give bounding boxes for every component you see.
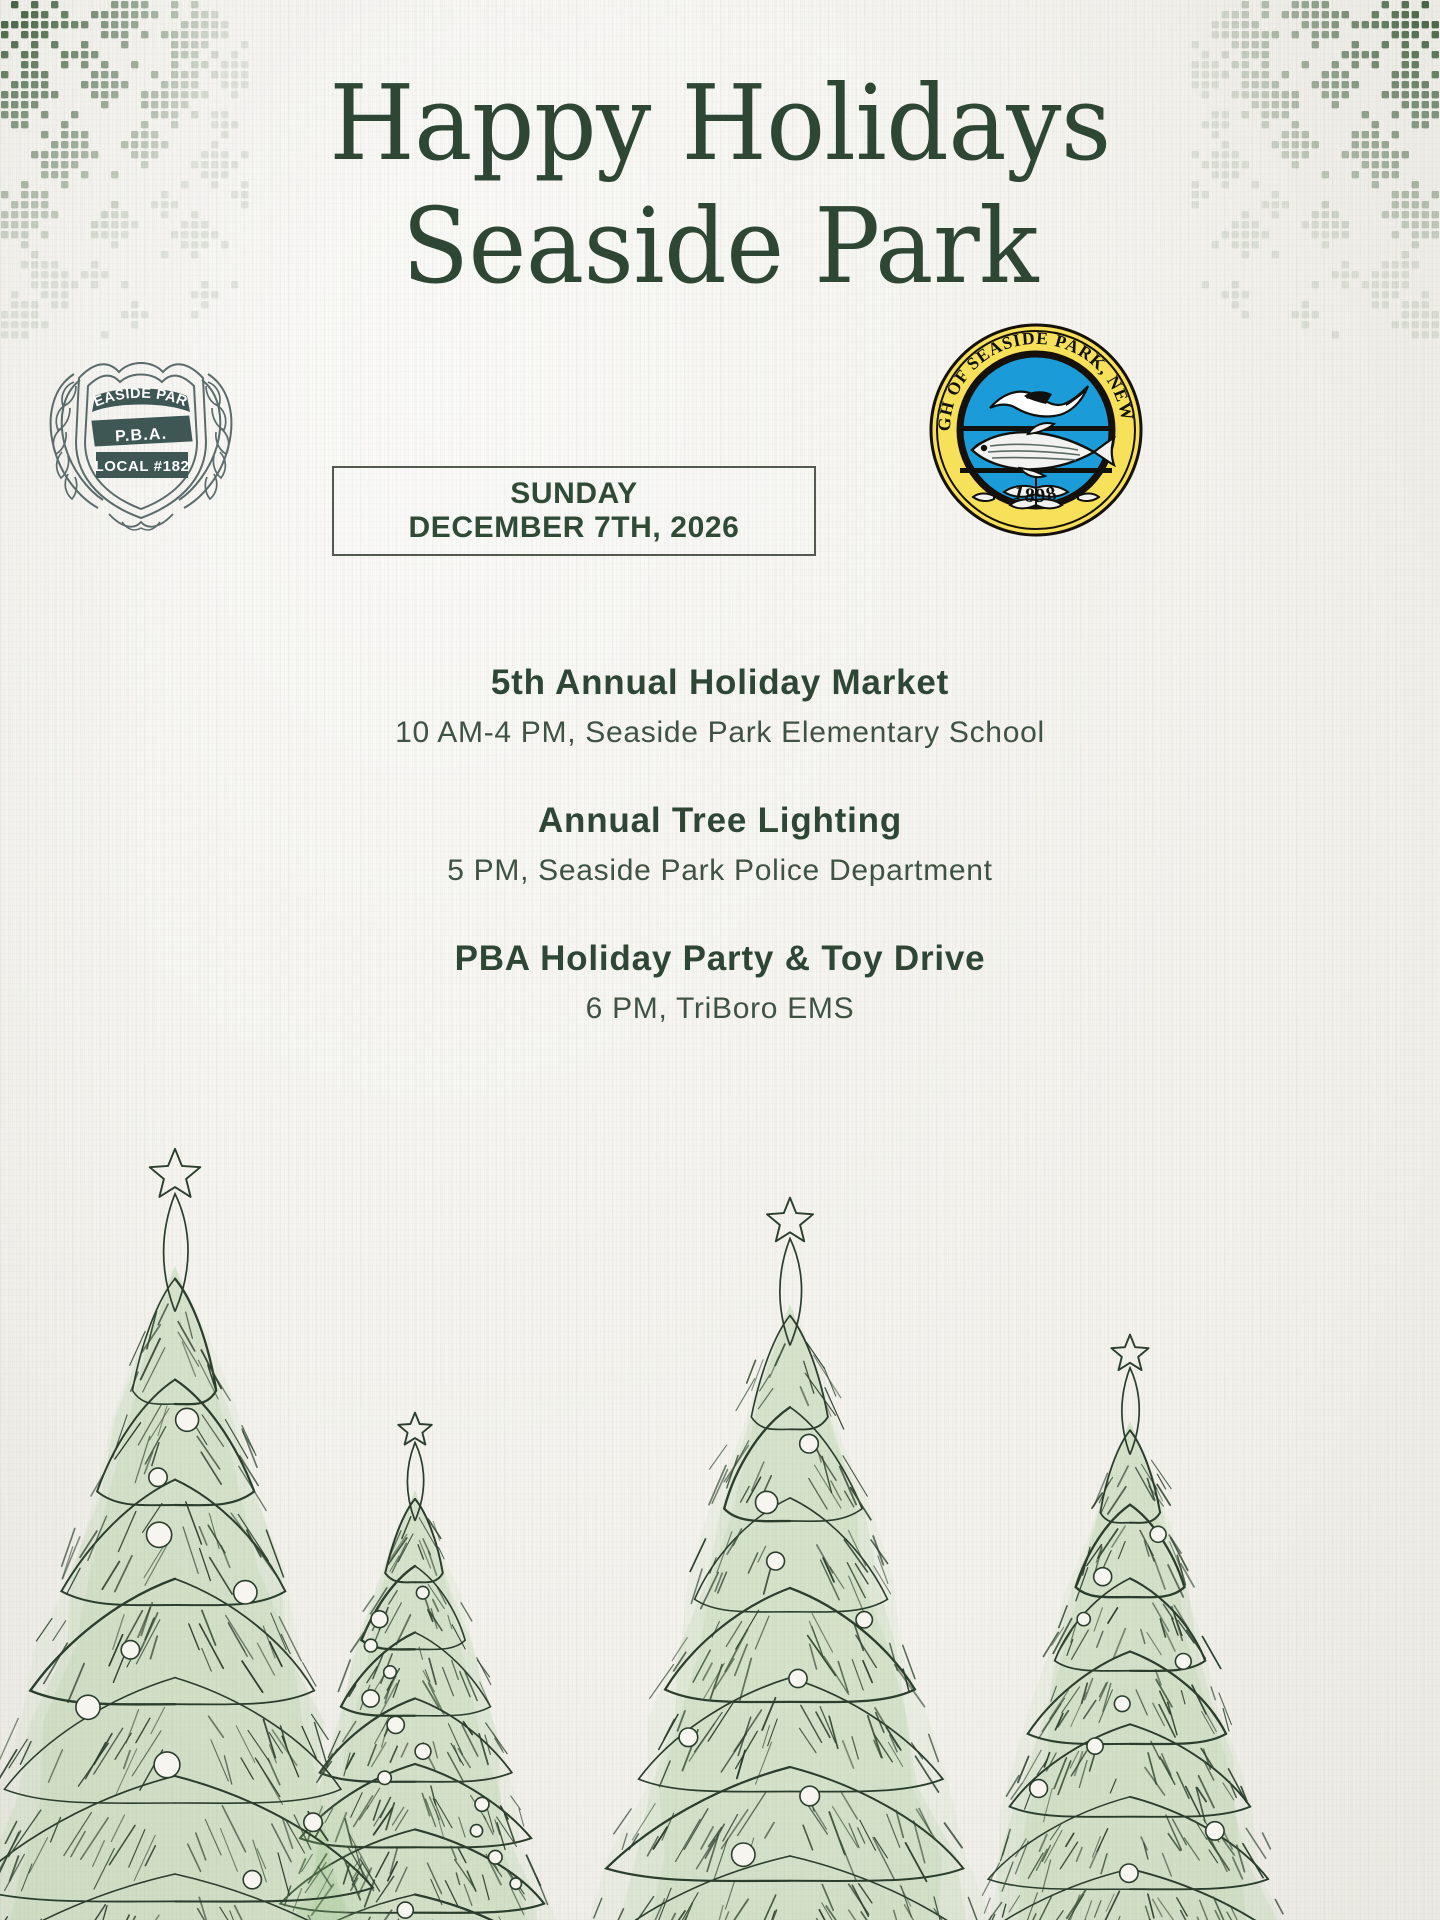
page-title: Happy Holidays Seaside Park: [0, 62, 1440, 307]
event-title: PBA Holiday Party & Toy Drive: [0, 936, 1440, 982]
event-date: DECEMBER 7TH, 2026: [409, 511, 740, 545]
pba-badge-bottom-text: LOCAL #182: [95, 458, 190, 475]
pba-badge-mid-text: P.B.A.: [115, 426, 168, 446]
title-line-2: Seaside Park: [43, 185, 1397, 308]
event-day-of-week: SUNDAY: [510, 477, 638, 511]
borough-of-seaside-park-seal-icon: BOROUGH OF SEASIDE PARK, NEW JERSEY 1898: [928, 322, 1144, 538]
events-list: 5th Annual Holiday Market 10 AM-4 PM, Se…: [0, 660, 1440, 1030]
event-item: 5th Annual Holiday Market 10 AM-4 PM, Se…: [0, 660, 1440, 754]
event-detail: 6 PM, TriBoro EMS: [0, 987, 1440, 1031]
seaside-park-pba-badge-icon: SEASIDE PARK P.B.A. LOCAL #182: [34, 322, 248, 534]
holiday-flyer: Happy Holidays Seaside Park: [0, 0, 1440, 1920]
event-title: Annual Tree Lighting: [0, 798, 1440, 844]
event-detail: 5 PM, Seaside Park Police Department: [0, 849, 1440, 893]
title-line-1: Happy Holidays: [43, 62, 1397, 185]
event-item: Annual Tree Lighting 5 PM, Seaside Park …: [0, 798, 1440, 892]
event-item: PBA Holiday Party & Toy Drive 6 PM, TriB…: [0, 936, 1440, 1030]
event-title: 5th Annual Holiday Market: [0, 660, 1440, 706]
event-detail: 10 AM-4 PM, Seaside Park Elementary Scho…: [0, 711, 1440, 755]
event-date-box: SUNDAY DECEMBER 7TH, 2026: [332, 466, 816, 556]
